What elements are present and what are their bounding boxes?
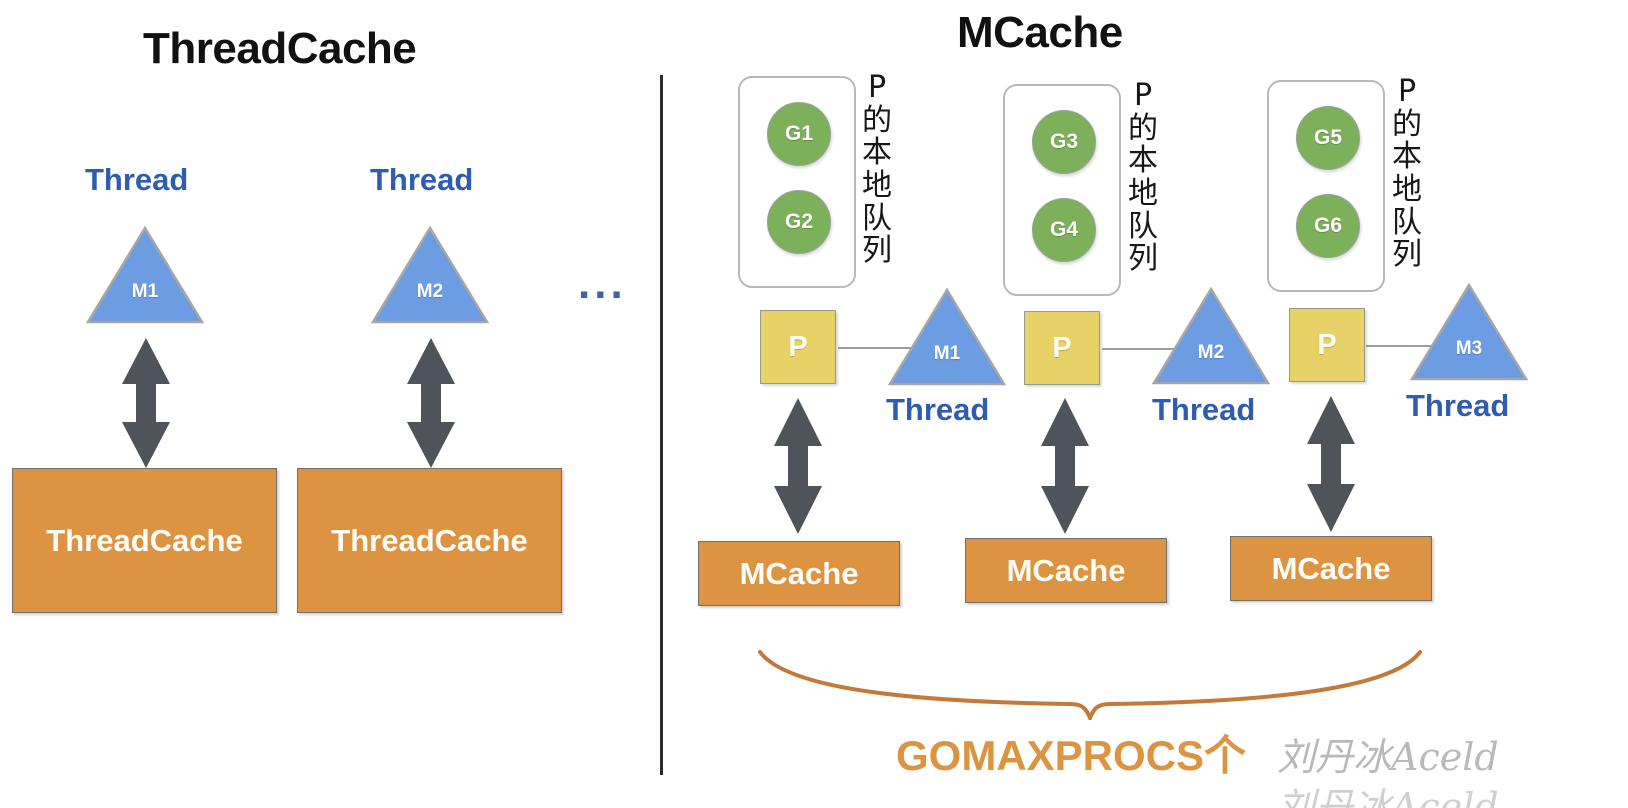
right-thread-label-3: Thread	[1406, 388, 1509, 424]
double-headed-arrow-icon	[402, 336, 460, 470]
local-queue-box-1: G1 G2	[738, 76, 856, 288]
caption-char: 本	[862, 137, 892, 170]
caption-char: 地	[1392, 174, 1422, 207]
caption-char: 的	[1392, 109, 1422, 142]
caption-char: 地	[862, 170, 892, 203]
caption-char: 队	[1128, 211, 1158, 244]
caption-char: P	[1398, 76, 1416, 109]
diagram-canvas: ThreadCache MCache Thread M1 ThreadCache…	[0, 0, 1628, 808]
triangle-icon	[888, 288, 1006, 386]
triangle-icon	[1410, 283, 1528, 381]
caption-char: 队	[1392, 207, 1422, 240]
caption-char: 列	[862, 235, 892, 268]
caption-char: 的	[862, 105, 892, 138]
p-box-2: P	[1024, 311, 1100, 385]
right-m-label-2: M2	[1152, 342, 1270, 364]
caption-char: P	[868, 72, 886, 105]
left-threadcache-box-1: ThreadCache	[12, 468, 277, 613]
goroutine-circle-g2: G2	[767, 190, 831, 254]
triangle-icon	[86, 226, 204, 324]
curly-brace-icon	[750, 640, 1430, 720]
goroutine-circle-g3: G3	[1032, 110, 1096, 174]
caption-char: P	[1134, 80, 1152, 113]
caption-char: 列	[1128, 243, 1158, 276]
left-threadcache-box-2: ThreadCache	[297, 468, 562, 613]
p-box-1: P	[760, 310, 836, 384]
right-thread-label-1: Thread	[886, 392, 989, 428]
triangle-icon	[1152, 287, 1270, 385]
mcache-box-1: MCache	[698, 541, 900, 606]
local-queue-caption-1: P 的 本 地 队 列	[862, 72, 892, 268]
local-queue-box-3: G5 G6	[1267, 80, 1385, 292]
caption-char: 列	[1392, 239, 1422, 272]
left-double-arrow-1	[117, 336, 175, 470]
caption-char: 本	[1128, 145, 1158, 178]
caption-char: 本	[1392, 141, 1422, 174]
triangle-icon	[371, 226, 489, 324]
left-ellipsis: ...	[578, 262, 627, 306]
right-m-triangle-2: M2	[1152, 287, 1270, 385]
right-m-triangle-3: M3	[1410, 283, 1528, 381]
watermark-line-2: 刘丹冰Aceld	[1277, 776, 1499, 808]
left-thread-label-1: Thread	[85, 162, 188, 198]
caption-char: 地	[1128, 178, 1158, 211]
left-thread-label-2: Thread	[370, 162, 473, 198]
watermark-line-1: 刘丹冰Aceld	[1277, 726, 1499, 781]
left-m-triangle-1: M1	[86, 226, 204, 324]
gomaxprocs-brace	[750, 640, 1430, 720]
left-m-label-2: M2	[371, 281, 489, 303]
left-double-arrow-2	[402, 336, 460, 470]
right-m-triangle-1: M1	[888, 288, 1006, 386]
caption-char: 队	[862, 203, 892, 236]
right-m-label-1: M1	[888, 343, 1006, 365]
caption-char: 的	[1128, 113, 1158, 146]
left-m-label-1: M1	[86, 281, 204, 303]
right-m-label-3: M3	[1410, 338, 1528, 360]
goroutine-circle-g6: G6	[1296, 194, 1360, 258]
panel-divider	[660, 75, 663, 775]
left-section-title: ThreadCache	[143, 24, 416, 74]
double-headed-arrow-icon	[1302, 394, 1360, 534]
left-m-triangle-2: M2	[371, 226, 489, 324]
mcache-box-3: MCache	[1230, 536, 1432, 601]
goroutine-circle-g1: G1	[767, 102, 831, 166]
double-headed-arrow-icon	[1036, 396, 1094, 536]
goroutine-circle-g5: G5	[1296, 106, 1360, 170]
gomaxprocs-label: GOMAXPROCS个	[896, 722, 1246, 783]
right-section-title: MCache	[957, 8, 1123, 58]
double-headed-arrow-icon	[117, 336, 175, 470]
goroutine-circle-g4: G4	[1032, 198, 1096, 262]
right-double-arrow-1	[769, 396, 827, 536]
right-thread-label-2: Thread	[1152, 392, 1255, 428]
local-queue-caption-2: P 的 本 地 队 列	[1128, 80, 1158, 276]
double-headed-arrow-icon	[769, 396, 827, 536]
local-queue-caption-3: P 的 本 地 队 列	[1392, 76, 1422, 272]
mcache-box-2: MCache	[965, 538, 1167, 603]
p-box-3: P	[1289, 308, 1365, 382]
right-double-arrow-3	[1302, 394, 1360, 534]
right-double-arrow-2	[1036, 396, 1094, 536]
local-queue-box-2: G3 G4	[1003, 84, 1121, 296]
